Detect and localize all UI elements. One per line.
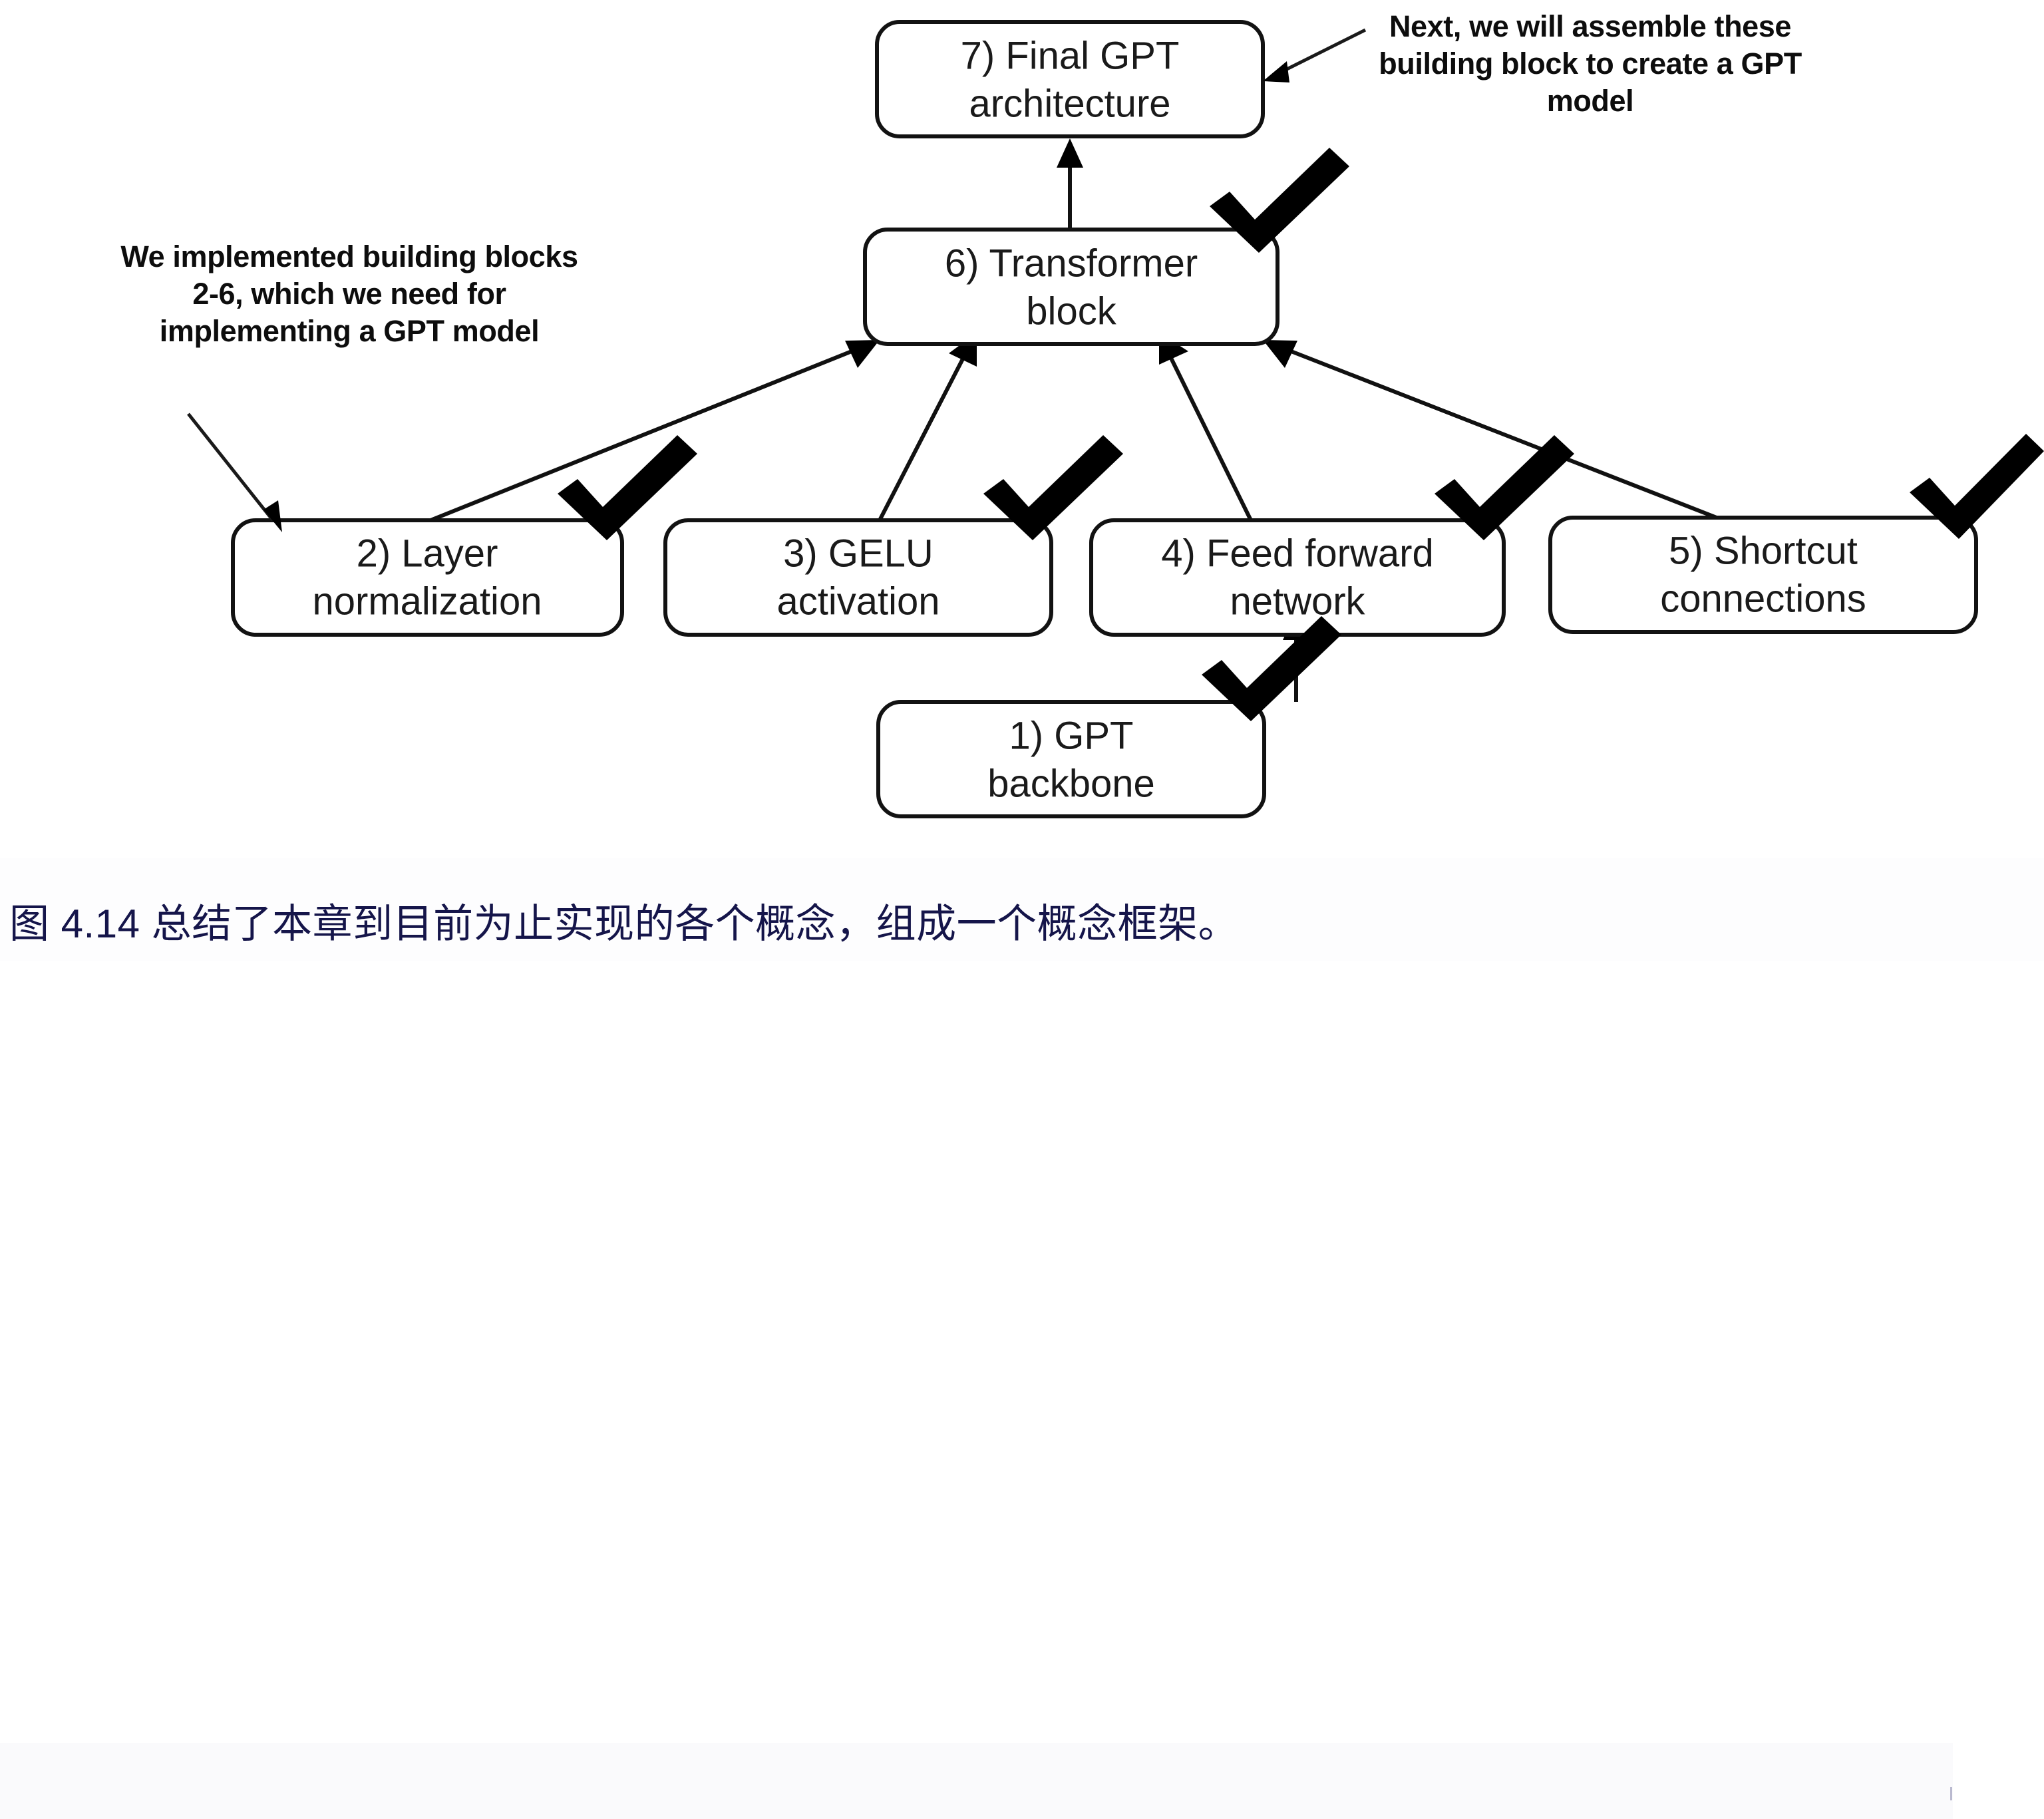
figure-caption: 图 4.14 总结了本章到目前为止实现的各个概念，组成一个概念框架。 <box>9 892 1238 949</box>
node-gelu-activation-label-1: 3) GELU <box>783 532 934 575</box>
node-final-gpt-architecture-label-1: 7) Final GPT <box>961 34 1180 77</box>
node-feed-forward-network-label-1: 4) Feed forward <box>1161 532 1433 575</box>
node-gelu-activation-label-2: activation <box>776 579 939 623</box>
annotation-leader-left <box>188 414 282 532</box>
concept-diagram: 7) Final GPT architecture 6) Transformer… <box>0 0 2044 858</box>
node-layer-normalization[interactable]: 2) Layer normalization <box>233 520 622 635</box>
node-shortcut-connections-label-1: 5) Shortcut <box>1669 529 1858 572</box>
caption-cursor-marker <box>1950 1787 1952 1800</box>
annotation-left-text: We implemented building blocks 2-6, whic… <box>80 238 619 349</box>
node-gpt-backbone[interactable]: 1) GPT backbone <box>878 702 1264 816</box>
node-layer-normalization-label-1: 2) Layer <box>357 532 498 575</box>
node-transformer-block-label-1: 6) Transformer <box>945 242 1198 285</box>
node-gpt-backbone-label-1: 1) GPT <box>1009 714 1134 757</box>
node-feed-forward-network[interactable]: 4) Feed forward network <box>1091 520 1504 635</box>
edge-ffn-to-transformer <box>1159 333 1251 520</box>
node-gelu-activation[interactable]: 3) GELU activation <box>665 520 1051 635</box>
node-shortcut-connections-label-2: connections <box>1660 577 1866 620</box>
edge-gelu-to-transformer <box>880 333 977 520</box>
caption-highlight-band <box>0 1743 1953 1819</box>
node-transformer-block-label-2: block <box>1026 289 1116 333</box>
annotation-right-text: Next, we will assemble these building bl… <box>1337 8 1843 119</box>
node-feed-forward-network-label-2: network <box>1230 579 1365 623</box>
node-final-gpt-architecture-label-2: architecture <box>969 82 1170 125</box>
node-gpt-backbone-label-2: backbone <box>987 762 1155 805</box>
node-transformer-block[interactable]: 6) Transformer block <box>865 230 1277 344</box>
node-layer-normalization-label-2: normalization <box>313 579 542 623</box>
node-shortcut-connections[interactable]: 5) Shortcut connections <box>1550 518 1976 632</box>
edge-shortcut-to-transformer <box>1263 340 1717 518</box>
edge-transformer-to-final <box>1057 138 1083 230</box>
node-final-gpt-architecture[interactable]: 7) Final GPT architecture <box>877 22 1263 136</box>
figure-page: 7) Final GPT architecture 6) Transformer… <box>0 0 2044 961</box>
